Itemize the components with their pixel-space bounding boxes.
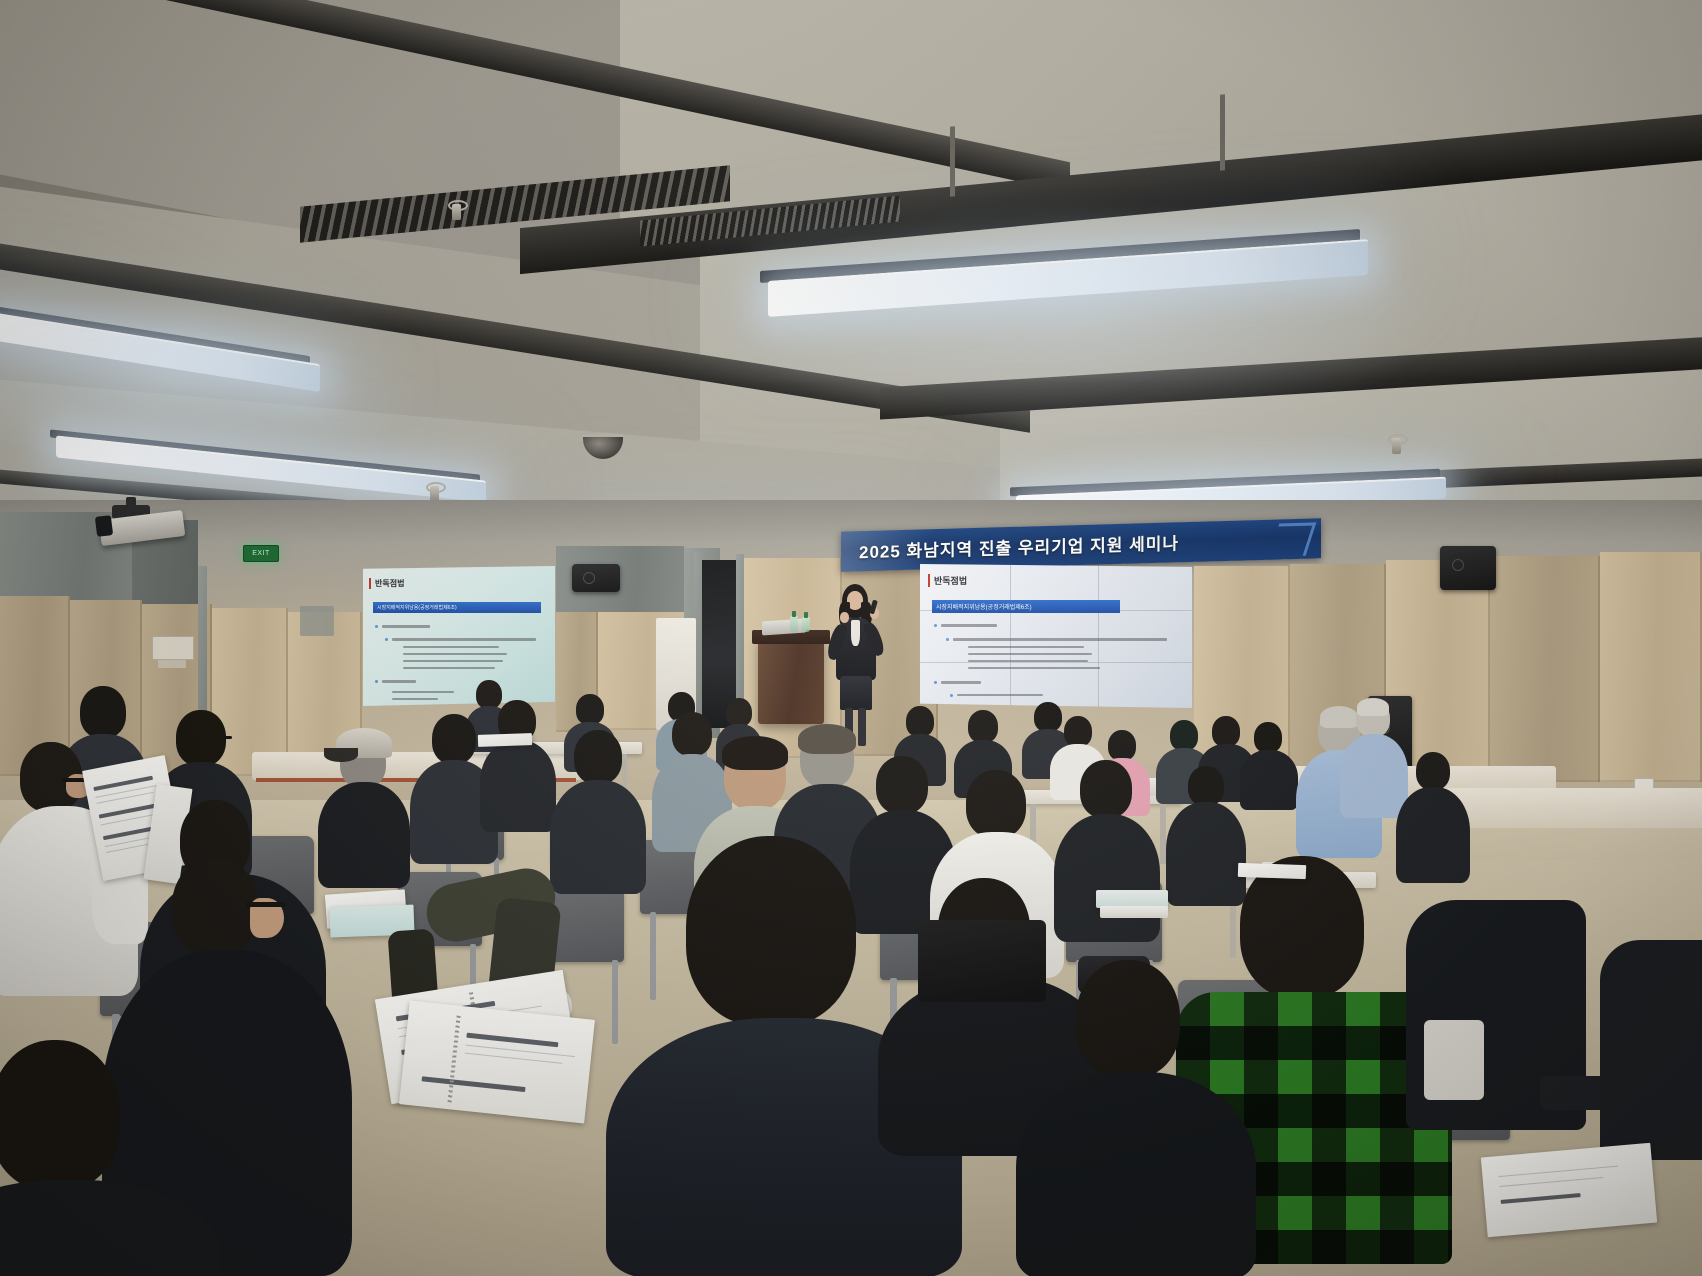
slide-text-line: [941, 681, 981, 684]
backpack: [918, 920, 1046, 1002]
head: [1034, 702, 1062, 732]
head: [1212, 716, 1240, 747]
slide-text-line: [392, 638, 536, 641]
head: [672, 712, 712, 756]
wall-speaker: [1440, 546, 1496, 590]
handout: [399, 1001, 595, 1124]
slide-text-line: [968, 646, 1084, 648]
head: [1254, 722, 1282, 753]
head: [172, 858, 258, 956]
head: [876, 756, 928, 814]
torso: [1396, 787, 1470, 883]
torso: [1016, 1072, 1256, 1276]
hanger-rod: [1220, 94, 1225, 170]
head: [80, 686, 126, 738]
wood-panel: [1600, 552, 1702, 782]
head: [0, 1040, 120, 1190]
head: [1108, 730, 1136, 761]
sprinkler-head: [452, 204, 461, 220]
head: [1188, 766, 1224, 806]
slide-text-line: [941, 624, 997, 627]
head: [1076, 960, 1180, 1078]
sprinkler-head: [1392, 438, 1401, 454]
head: [906, 706, 934, 737]
slide-bullet: [934, 681, 937, 684]
torso: [1054, 814, 1160, 942]
slide-text-line: [382, 680, 416, 683]
wood-panel: [1490, 556, 1600, 782]
spiral-binding: [447, 1016, 460, 1106]
paper-text: [1501, 1193, 1581, 1204]
slide-header-bar-left: 시장지배적지위남용(공정거래법제6조): [373, 602, 541, 613]
slide-table-gridline: [920, 662, 1192, 663]
slide-title-left: 반독점법: [375, 578, 404, 589]
presenter-hand: [840, 612, 849, 623]
slide-text-line: [403, 660, 503, 662]
glasses: [218, 736, 232, 739]
head: [576, 694, 604, 725]
slide-table-gridline: [1010, 564, 1011, 708]
slide-accent-bar: [369, 578, 371, 589]
head: [1170, 720, 1198, 751]
slide-bullet: [950, 694, 953, 697]
head: [966, 770, 1026, 838]
head: [726, 698, 752, 727]
seminar-room-photo: EXIT 반독점법 시장지배적지위남용(공정거래법제6조) 2025: [0, 0, 1702, 1276]
slide-text-line: [403, 646, 499, 648]
head: [574, 730, 622, 784]
exit-sign[interactable]: EXIT: [243, 545, 279, 562]
presenter-leg: [858, 708, 866, 746]
hair: [798, 724, 856, 754]
white-bag: [1424, 1020, 1484, 1100]
paper-text: [96, 792, 153, 804]
slide-text-line: [403, 667, 495, 669]
slide-text-line: [968, 667, 1100, 669]
wall-speaker: [572, 564, 620, 592]
slide-bullet: [934, 624, 937, 627]
cap-brim: [324, 748, 358, 762]
torso: [550, 780, 646, 894]
book-stack: [1100, 906, 1168, 918]
chair-leg: [650, 912, 656, 1000]
wall-sign: [158, 660, 186, 668]
ceiling: [0, 0, 1702, 560]
slide-text-line: [968, 660, 1088, 662]
torso: [318, 782, 410, 888]
slide-text-line: [968, 653, 1092, 655]
slide-header-bar-right: 시장지배적지위남용(공정거래법제6조): [932, 600, 1120, 613]
head: [686, 836, 856, 1026]
slide-text-line: [392, 698, 438, 700]
paper-text: [93, 776, 153, 791]
torso: [1166, 802, 1246, 906]
slide-bullet: [946, 638, 949, 641]
paper-text: [466, 1033, 558, 1048]
head: [1080, 760, 1132, 818]
paper: [478, 733, 532, 747]
grey-hair: [1320, 706, 1358, 728]
projection-screen-right: 반독점법 시장지배적지위남용(공정거래법제6조): [920, 564, 1192, 708]
grey-hair: [1357, 698, 1389, 716]
slide-table-gridline: [1098, 564, 1099, 708]
chair-leg: [612, 960, 618, 1044]
slide-text-line: [392, 691, 454, 693]
paper-text: [1499, 1177, 1603, 1187]
head: [432, 714, 476, 764]
slide-accent-bar: [928, 574, 930, 587]
wall-control-panel[interactable]: [300, 606, 334, 636]
handout: [1481, 1143, 1657, 1238]
water-bottle: [790, 616, 798, 632]
slide-text-line: [382, 625, 430, 628]
wall-sign: [152, 636, 194, 660]
presenter-skirt: [840, 676, 872, 710]
slide-bullet: [385, 638, 388, 641]
head: [1416, 752, 1450, 790]
exit-sign-label: EXIT: [252, 550, 270, 557]
head: [476, 680, 502, 709]
podium: [758, 638, 824, 724]
torso: [1340, 734, 1408, 818]
torso: [1600, 940, 1702, 1160]
projector-lens: [95, 515, 113, 537]
slide-text-line: [957, 694, 1043, 696]
slide-bullet: [375, 680, 378, 683]
hair: [722, 736, 788, 770]
torso: [480, 740, 556, 832]
slide-bullet: [375, 625, 378, 628]
presenter-blouse: [851, 620, 860, 646]
paper-text: [1499, 1166, 1619, 1177]
head: [1064, 716, 1092, 747]
water-bottle: [802, 617, 810, 632]
banner-chevron-icon: [1269, 522, 1317, 556]
glasses: [246, 902, 286, 907]
head: [968, 710, 998, 743]
projection-screen-left: 반독점법 시장지배적지위남용(공정거래법제6조): [363, 566, 555, 706]
paper-text: [422, 1076, 526, 1092]
slide-text-line: [403, 653, 507, 655]
slide-text-line: [953, 638, 1167, 641]
paper: [1238, 863, 1306, 879]
slide-title-right: 반독점법: [934, 574, 967, 587]
hanger-rod: [950, 126, 955, 196]
torso: [1240, 750, 1298, 810]
